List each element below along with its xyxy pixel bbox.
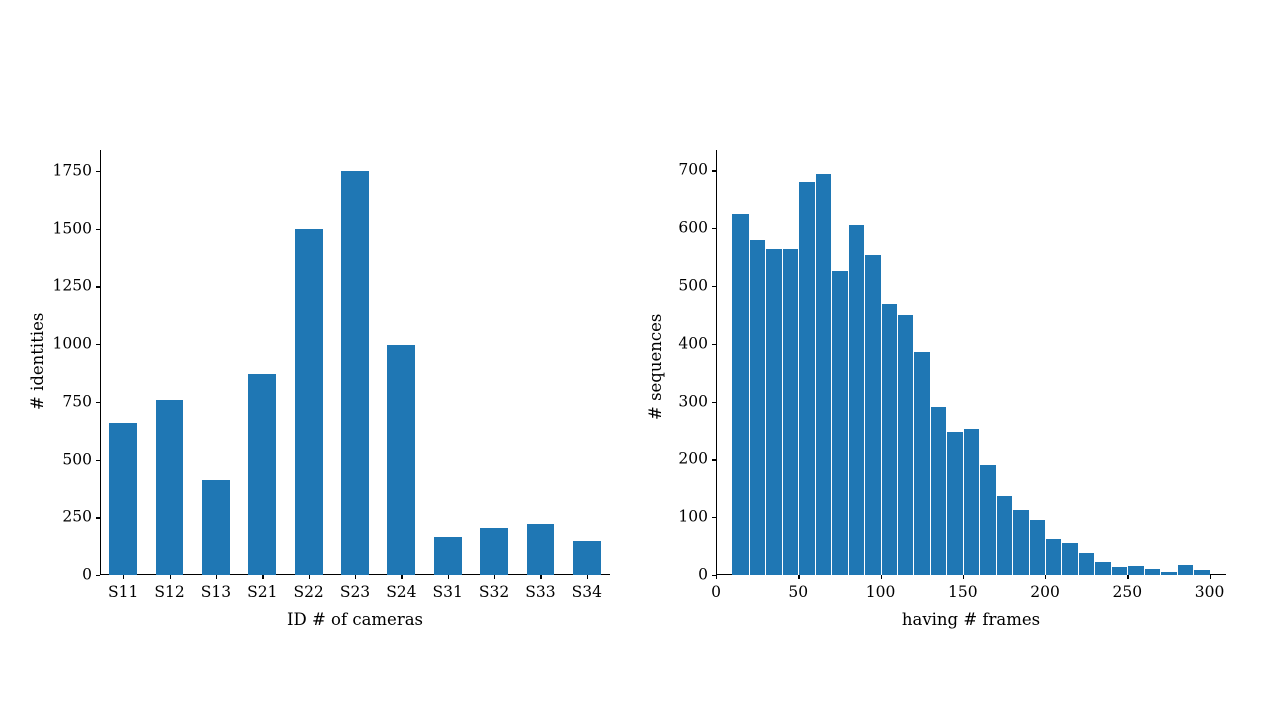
y-tick-label-right: 400 <box>662 336 708 352</box>
histogram-series-right <box>716 150 1226 575</box>
histogram-bin-290 <box>1193 570 1209 575</box>
x-axis-title-right: having # frames <box>902 612 1040 629</box>
chart-panel-left: 02505007501000125015001750 S11S12S13S21S… <box>0 0 640 720</box>
x-axis-title-left: ID # of cameras <box>287 612 423 629</box>
bar-S32 <box>480 528 508 575</box>
y-axis-title-left: # identities <box>30 313 47 410</box>
y-tick-label-left: 1500 <box>46 221 92 237</box>
histogram-bin-60 <box>815 174 831 575</box>
histogram-bin-140 <box>946 432 962 575</box>
histogram-bin-210 <box>1061 543 1077 575</box>
x-tick-label-right: 0 <box>711 585 721 601</box>
y-tick-label-right: 600 <box>662 220 708 236</box>
y-tick-left <box>96 402 100 403</box>
x-tick-right <box>963 575 964 579</box>
x-tick-label-S11: S11 <box>108 585 138 601</box>
histogram-bin-180 <box>1012 510 1028 575</box>
y-tick-label-left: 1750 <box>46 163 92 179</box>
histogram-bin-170 <box>996 496 1012 575</box>
bar-S13 <box>202 480 230 575</box>
histogram-bin-200 <box>1045 539 1061 575</box>
y-tick-left <box>96 344 100 345</box>
x-tick-label-right: 300 <box>1195 585 1225 601</box>
histogram-bin-40 <box>782 249 798 575</box>
histogram-bin-110 <box>897 315 913 575</box>
y-tick-right <box>712 170 716 171</box>
bar-S33 <box>527 524 555 575</box>
y-tick-right <box>712 402 716 403</box>
x-tick-left <box>355 575 356 579</box>
x-tick-left <box>309 575 310 579</box>
histogram-bin-190 <box>1029 520 1045 575</box>
y-tick-label-right: 0 <box>662 567 708 583</box>
histogram-bin-80 <box>848 225 864 575</box>
x-tick-left <box>262 575 263 579</box>
y-tick-left <box>96 229 100 230</box>
x-tick-label-right: 250 <box>1112 585 1142 601</box>
y-tick-right <box>712 459 716 460</box>
y-tick-label-left: 250 <box>46 510 92 526</box>
bar-S22 <box>295 229 323 575</box>
bar-S12 <box>156 400 184 575</box>
histogram-bin-100 <box>881 304 897 575</box>
y-tick-right <box>712 344 716 345</box>
histogram-bin-260 <box>1144 569 1160 575</box>
bar-S34 <box>573 541 601 575</box>
x-tick-label-S24: S24 <box>386 585 416 601</box>
x-tick-right <box>881 575 882 579</box>
histogram-bin-130 <box>930 407 946 575</box>
bar-S21 <box>248 374 276 575</box>
x-tick-label-S13: S13 <box>201 585 231 601</box>
histogram-bin-70 <box>831 271 847 575</box>
y-tick-right <box>712 517 716 518</box>
chart-panel-right: 0100200300400500600700 05010015020025030… <box>640 0 1280 720</box>
y-tick-label-left: 500 <box>46 452 92 468</box>
histogram-bin-220 <box>1078 553 1094 575</box>
x-tick-right <box>1127 575 1128 579</box>
y-tick-right <box>712 228 716 229</box>
x-tick-label-S33: S33 <box>525 585 555 601</box>
histogram-bin-50 <box>798 182 814 575</box>
histogram-bin-160 <box>979 465 995 575</box>
x-tick-label-S22: S22 <box>293 585 323 601</box>
bar-S24 <box>387 345 415 575</box>
histogram-bin-230 <box>1094 562 1110 575</box>
histogram-bin-120 <box>913 352 929 575</box>
histogram-bin-250 <box>1127 566 1143 575</box>
x-tick-label-S31: S31 <box>433 585 463 601</box>
y-tick-label-right: 300 <box>662 394 708 410</box>
x-tick-left <box>494 575 495 579</box>
histogram-bin-10 <box>732 214 748 575</box>
bar-S31 <box>434 537 462 575</box>
x-tick-label-right: 150 <box>948 585 978 601</box>
figure-canvas: 02505007501000125015001750 S11S12S13S21S… <box>0 0 1280 720</box>
y-tick-left <box>96 171 100 172</box>
x-tick-label-S34: S34 <box>572 585 602 601</box>
x-tick-right <box>716 575 717 579</box>
y-tick-label-left: 1000 <box>46 336 92 352</box>
y-tick-label-right: 200 <box>662 452 708 468</box>
histogram-bin-270 <box>1160 572 1176 575</box>
histogram-bin-280 <box>1177 565 1193 575</box>
histogram-bin-240 <box>1111 567 1127 575</box>
y-tick-label-left: 0 <box>46 567 92 583</box>
y-tick-right <box>712 286 716 287</box>
histogram-bin-150 <box>963 429 979 575</box>
y-tick-label-left: 750 <box>46 394 92 410</box>
bar-series-left <box>100 150 610 575</box>
x-tick-left <box>448 575 449 579</box>
histogram-bin-30 <box>765 249 781 575</box>
x-tick-label-S23: S23 <box>340 585 370 601</box>
y-tick-left <box>96 286 100 287</box>
x-tick-left <box>587 575 588 579</box>
x-tick-right <box>1045 575 1046 579</box>
y-tick-left <box>96 575 100 576</box>
y-tick-label-left: 1250 <box>46 279 92 295</box>
y-tick-label-right: 500 <box>662 278 708 294</box>
bar-S23 <box>341 171 369 575</box>
plot-area-right: 0100200300400500600700 05010015020025030… <box>716 150 1226 575</box>
histogram-bin-20 <box>749 240 765 575</box>
x-tick-left <box>216 575 217 579</box>
y-axis-title-right: # sequences <box>648 314 665 420</box>
x-tick-label-right: 100 <box>866 585 896 601</box>
x-tick-left <box>170 575 171 579</box>
x-tick-label-right: 50 <box>788 585 808 601</box>
x-tick-label-right: 200 <box>1030 585 1060 601</box>
x-tick-label-S12: S12 <box>154 585 184 601</box>
plot-area-left: 02505007501000125015001750 S11S12S13S21S… <box>100 150 610 575</box>
y-tick-left <box>96 517 100 518</box>
x-tick-left <box>401 575 402 579</box>
x-tick-label-S32: S32 <box>479 585 509 601</box>
y-tick-left <box>96 460 100 461</box>
x-tick-label-S21: S21 <box>247 585 277 601</box>
x-tick-right <box>1210 575 1211 579</box>
x-tick-right <box>798 575 799 579</box>
y-tick-label-right: 100 <box>662 509 708 525</box>
histogram-bin-90 <box>864 255 880 575</box>
x-tick-left <box>123 575 124 579</box>
y-tick-label-right: 700 <box>662 162 708 178</box>
bar-S11 <box>109 423 137 575</box>
x-tick-left <box>540 575 541 579</box>
